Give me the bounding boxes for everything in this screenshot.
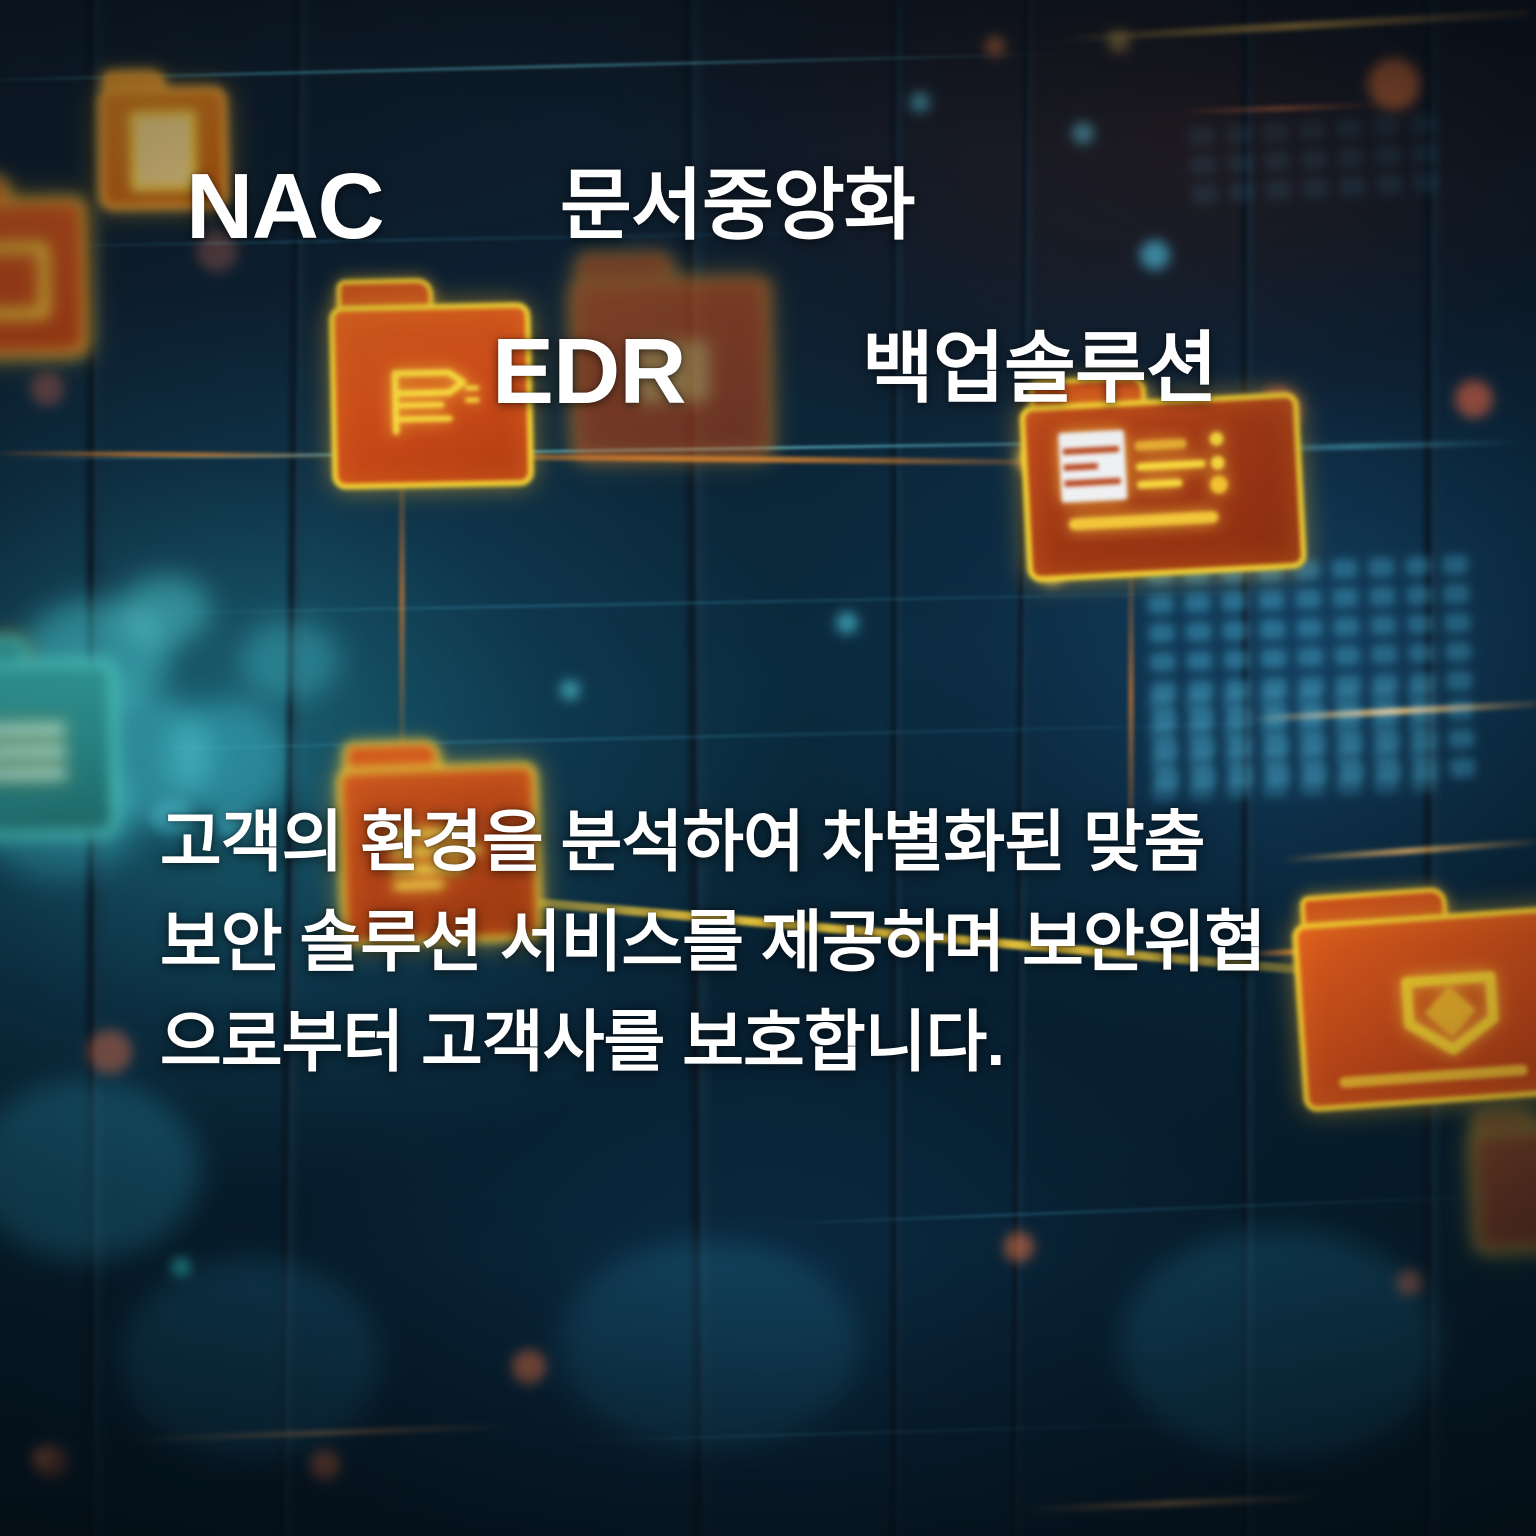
server-rack-lights: [1148, 685, 1437, 802]
body-line-1: 고객의 환경을 분석하여 차별화된 맞춤: [160, 793, 1340, 893]
folder-body: [0, 197, 90, 360]
bokeh-light: [1072, 122, 1094, 144]
body-line-2: 보안 솔루션 서비스를 제공하며 보안위협: [160, 893, 1340, 993]
bokeh-light: [172, 1258, 190, 1276]
folder-left-edge-lower: [0, 175, 77, 348]
bokeh-light: [310, 1450, 340, 1480]
folder-underline: [1339, 1064, 1528, 1088]
label-nac: NAC: [186, 160, 383, 253]
bokeh-light: [120, 575, 210, 645]
document-glyph: [0, 243, 49, 318]
bokeh-light: [560, 1240, 860, 1450]
bokeh-light: [836, 612, 858, 634]
folder-body: [1019, 391, 1308, 583]
bokeh-light: [30, 372, 64, 406]
bokeh-light: [985, 36, 1005, 56]
bokeh-light: [560, 680, 580, 700]
window-list-glyph: [1054, 418, 1249, 538]
bokeh-light: [1004, 1232, 1034, 1262]
poster-canvas: NAC 문서중앙화 EDR 백업솔루션 고객의 환경을 분석하여 차별화된 맞춤…: [0, 0, 1536, 1536]
label-backup-solution: 백업솔루션: [862, 329, 1217, 407]
bokeh-light: [1455, 380, 1493, 418]
bokeh-light: [1120, 1230, 1440, 1460]
flag-file-glyph: [383, 358, 481, 440]
bokeh-light: [910, 92, 930, 112]
list-lines-glyph: [0, 724, 66, 781]
bokeh-light: [1140, 240, 1170, 270]
label-edr: EDR: [492, 325, 686, 418]
label-document-centralization: 문서중앙화: [560, 166, 915, 244]
folder-body: [0, 659, 118, 839]
bokeh-light: [88, 1030, 132, 1074]
server-rack-lights: [1188, 114, 1440, 205]
bokeh-light: [512, 1350, 546, 1384]
folder-far-right: [1467, 1107, 1536, 1243]
bokeh-light: [32, 1448, 52, 1468]
bokeh-light: [240, 620, 340, 700]
folder-body: [1468, 1123, 1536, 1255]
diamond-shield-glyph: [1383, 959, 1517, 1064]
body-paragraph: 고객의 환경을 분석하여 차별화된 맞춤 보안 솔루션 서비스를 제공하며 보안…: [160, 793, 1340, 1093]
bokeh-light: [1396, 1270, 1422, 1296]
folder-connector: [399, 460, 405, 760]
folder-left-edge: [0, 635, 106, 828]
body-line-3: 으로부터 고객사를 보호합니다.: [160, 993, 1340, 1093]
